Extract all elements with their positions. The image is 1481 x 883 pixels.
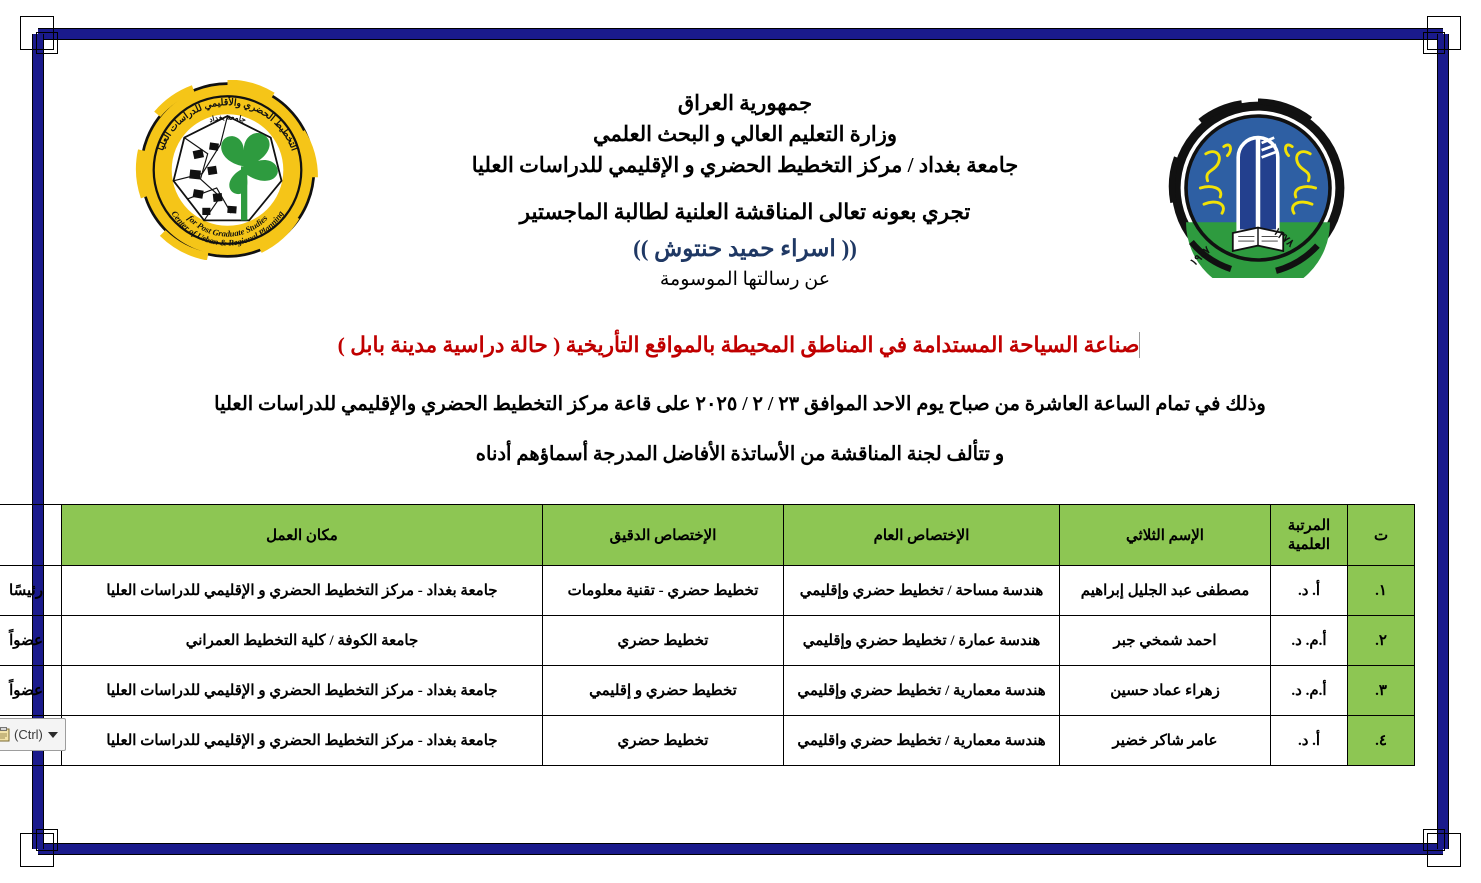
cell-general: هندسة معمارية / تخطيط حضري واقليمي <box>784 716 1060 766</box>
border-corner-top-left-in <box>36 32 58 54</box>
cell-name: زهراء عماد حسين <box>1060 666 1271 716</box>
committee-intro-line: و تتألف لجنة المناقشة من الأساتذة الأفاض… <box>250 442 1230 466</box>
border-bar-bottom <box>38 843 1443 855</box>
border-corner-bottom-right <box>1427 833 1461 867</box>
cell-general: هندسة عمارة / تخطيط حضري وإقليمي <box>784 616 1060 666</box>
column-header-general: الإختصاص العام <box>784 505 1060 566</box>
committee-table: ت المرتبة العلمية الإسم الثلاثي الإختصاص… <box>0 504 1415 766</box>
cell-specific: تخطيط حضري - تقنية معلومات <box>543 566 784 616</box>
cell-index: ٢. <box>1348 616 1415 666</box>
column-header-rank: المرتبة العلمية <box>1271 505 1348 566</box>
student-name: (( اسراء حميد حنتوش )) <box>350 236 1140 262</box>
cell-name: مصطفى عبد الجليل إبراهيم <box>1060 566 1271 616</box>
cell-index: ١. <box>1348 566 1415 616</box>
column-header-role-blank <box>0 505 62 566</box>
column-header-name: الإسم الثلاثي <box>1060 505 1271 566</box>
table-row: ٣. أ.م. د. زهراء عماد حسين هندسة معمارية… <box>0 666 1415 716</box>
chevron-down-icon[interactable] <box>48 732 58 738</box>
cell-specific: تخطيط حضري <box>543 616 784 666</box>
document-header: جمهورية العراق وزارة التعليم العالي و ال… <box>350 88 1140 291</box>
border-corner-bottom-left <box>20 833 54 867</box>
announcement-line: تجري بعونه تعالى المناقشة العلنية لطالبة… <box>350 197 1140 228</box>
border-corner-top-right-in <box>1423 32 1445 54</box>
center-urban-regional-planning-logo: التخطيط الحضري والأقليمي للدراسات العليا… <box>135 80 320 260</box>
university-of-baghdad-logo: ١٩٥٧ ١٣٧٨ <box>1168 98 1348 278</box>
text-cursor <box>1139 332 1140 358</box>
cell-rank: أ. د. <box>1271 716 1348 766</box>
border-bar-top <box>38 28 1443 40</box>
cell-role: رئيسًا <box>0 566 62 616</box>
cell-workplace: جامعة بغداد - مركز التخطيط الحضري و الإق… <box>62 666 543 716</box>
border-bar-right <box>1437 34 1449 849</box>
border-corner-top-left <box>20 16 54 50</box>
column-header-specific: الإختصاص الدقيق <box>543 505 784 566</box>
header-line-ministry: وزارة التعليم العالي و البحث العلمي <box>350 119 1140 150</box>
cell-role: عضواً <box>0 616 62 666</box>
column-header-workplace: مكان العمل <box>62 505 543 566</box>
cell-name: عامر شاكر خضير <box>1060 716 1271 766</box>
cell-workplace: جامعة بغداد - مركز التخطيط الحضري و الإق… <box>62 716 543 766</box>
cell-workplace: جامعة بغداد - مركز التخطيط الحضري و الإق… <box>62 566 543 616</box>
table-row: ٢. أ.م. د. احمد شمخي جبر هندسة عمارة / ت… <box>0 616 1415 666</box>
thesis-label: عن رسالتها الموسومة <box>350 268 1140 291</box>
table-header-row: ت المرتبة العلمية الإسم الثلاثي الإختصاص… <box>0 505 1415 566</box>
border-corner-bottom-right-in <box>1423 829 1445 851</box>
cell-name: احمد شمخي جبر <box>1060 616 1271 666</box>
border-corner-top-right <box>1427 16 1461 50</box>
cell-workplace: جامعة الكوفة / كلية التخطيط العمراني <box>62 616 543 666</box>
header-line-country: جمهورية العراق <box>350 88 1140 119</box>
committee-table-container: ت المرتبة العلمية الإسم الثلاثي الإختصاص… <box>68 504 1415 766</box>
cell-general: هندسة معمارية / تخطيط حضري وإقليمي <box>784 666 1060 716</box>
cell-general: هندسة مساحة / تخطيط حضري وإقليمي <box>784 566 1060 616</box>
cell-index: ٣. <box>1348 666 1415 716</box>
defense-date-line: وذلك في تمام الساعة العاشرة من صباح يوم … <box>150 392 1330 416</box>
table-row: ١. أ. د. مصطفى عبد الجليل إبراهيم هندسة … <box>0 566 1415 616</box>
paste-options-button[interactable]: (Ctrl) <box>0 718 66 751</box>
paste-options-label: (Ctrl) <box>14 727 43 742</box>
column-header-index: ت <box>1348 505 1415 566</box>
cell-rank: أ. د. <box>1271 566 1348 616</box>
cell-rank: أ.م. د. <box>1271 666 1348 716</box>
cell-rank: أ.م. د. <box>1271 616 1348 666</box>
thesis-title-text: صناعة السياحة المستدامة في المناطق المحي… <box>338 333 1140 357</box>
clipboard-icon <box>0 727 10 742</box>
header-line-center: جامعة بغداد / مركز التخطيط الحضري و الإق… <box>350 150 1140 181</box>
thesis-title: صناعة السياحة المستدامة في المناطق المحي… <box>200 330 1280 360</box>
cell-specific: تخطيط حضري و إقليمي <box>543 666 784 716</box>
cell-index: ٤. <box>1348 716 1415 766</box>
table-row: ٤. أ. د. عامر شاكر خضير هندسة معمارية / … <box>0 716 1415 766</box>
cell-specific: تخطيط حضري <box>543 716 784 766</box>
cell-role: عضواً <box>0 666 62 716</box>
border-corner-bottom-left-in <box>36 829 58 851</box>
